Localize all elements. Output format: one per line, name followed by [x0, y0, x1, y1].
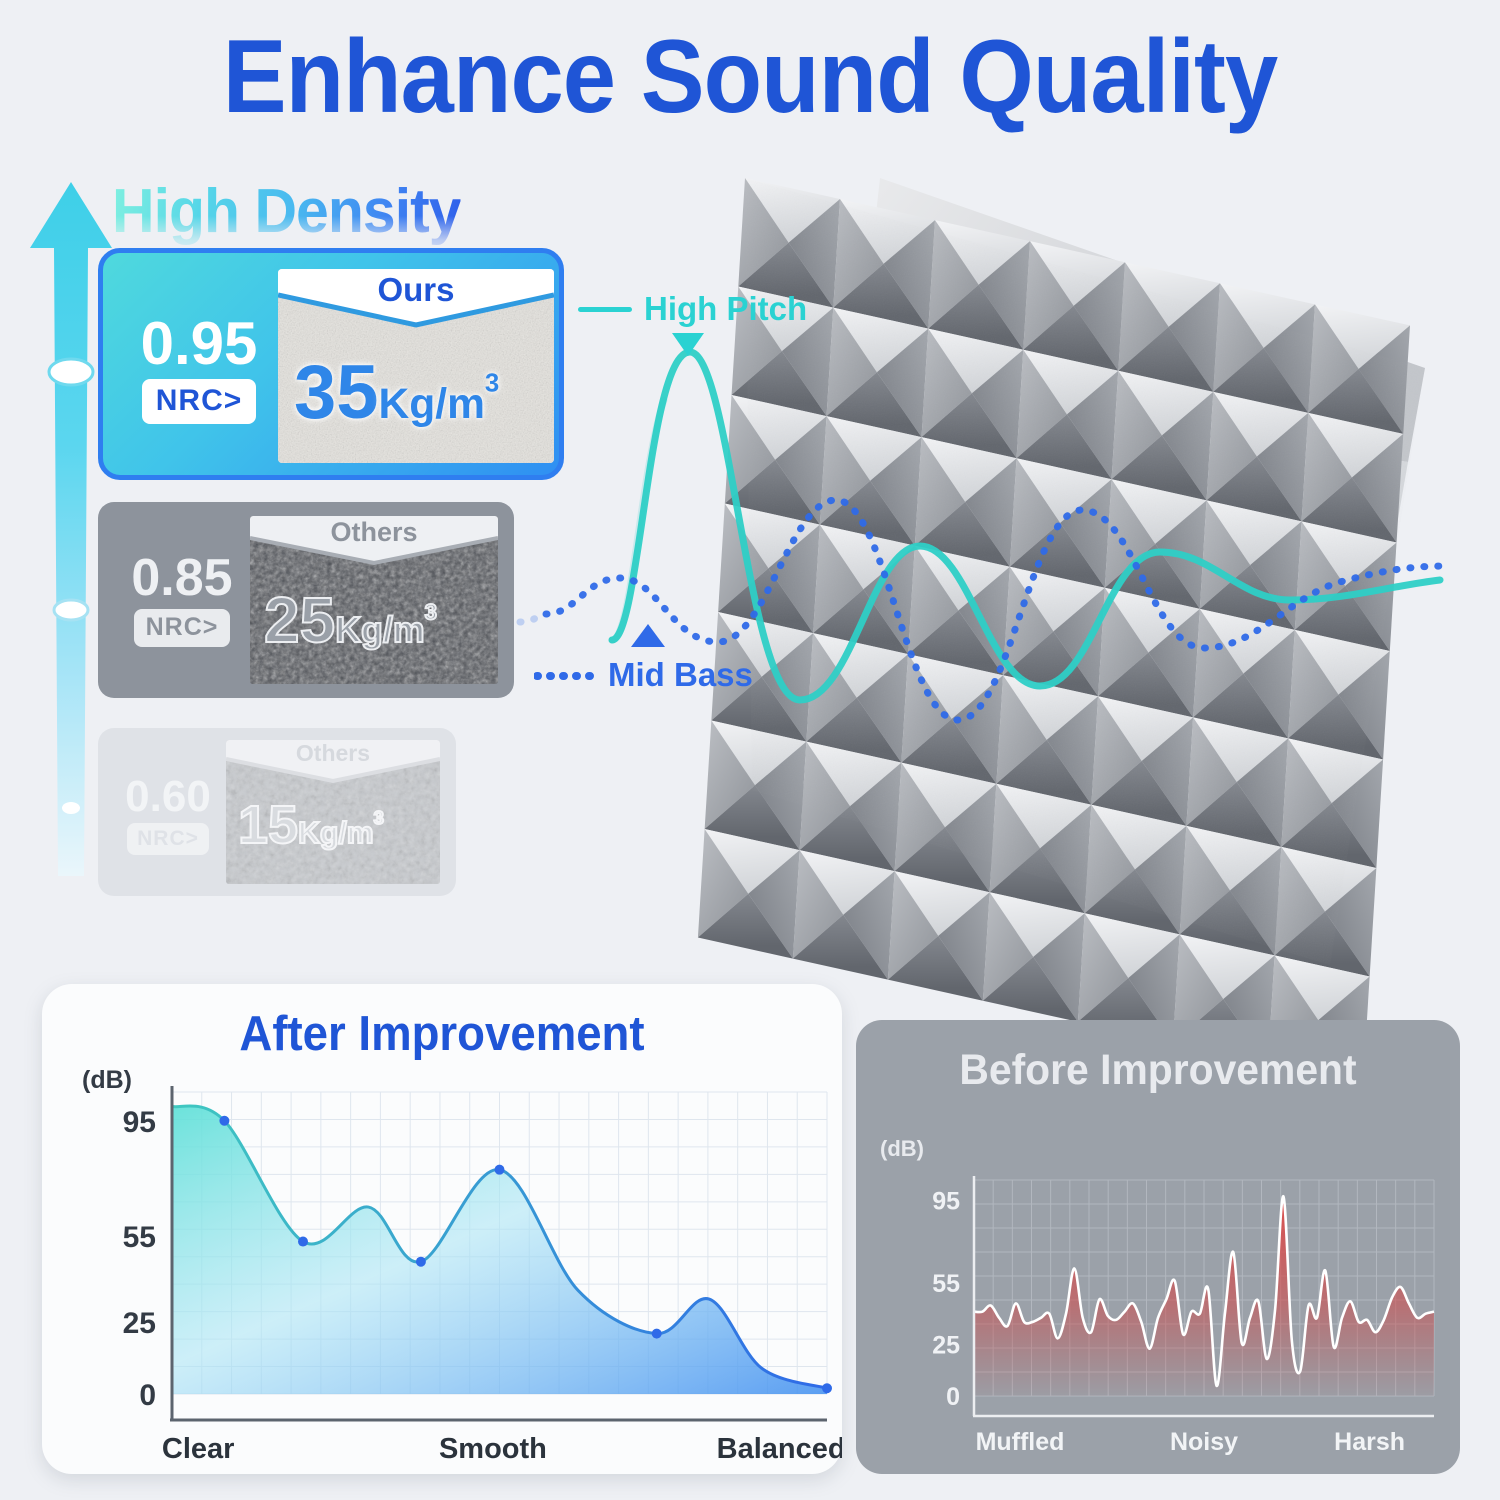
density-sup-ours: 3 — [485, 370, 499, 398]
density-value-others-15: 15Kg/m3 — [238, 798, 384, 852]
legend-label-high-pitch: High Pitch — [644, 290, 807, 328]
nrc-value-others-25: 0.85 — [116, 554, 248, 603]
after-xtick: Clear — [162, 1433, 235, 1465]
before-ytick: 25 — [932, 1332, 960, 1360]
foam-swatch-others-25: Others 25Kg/m3 — [250, 516, 498, 684]
after-chart-plot: 0255595ClearSmoothBalanced — [42, 984, 842, 1474]
density-card-others-15: 0.60 NRC> Others 15K — [98, 728, 456, 896]
nrc-value-ours: 0.95 — [125, 315, 273, 372]
after-ytick: 25 — [123, 1307, 156, 1340]
swatch-banner-others-15: Others — [226, 740, 440, 778]
triangle-down-icon — [668, 330, 708, 360]
swatch-brand-others-15: Others — [296, 740, 370, 767]
before-ytick: 55 — [932, 1270, 960, 1298]
after-ytick: 55 — [123, 1221, 156, 1254]
swatch-brand-ours: Ours — [377, 271, 454, 309]
before-improvement-chart: Before Improvement (dB) 0255595MuffledNo… — [856, 1020, 1460, 1474]
foam-swatch-others-15: Others 15Kg/m3 — [226, 740, 440, 884]
before-xtick: Harsh — [1334, 1428, 1405, 1456]
after-improvement-chart: After Improvement (dB) 0255595ClearSmoot… — [42, 984, 842, 1474]
before-ytick: 95 — [932, 1188, 960, 1216]
swatch-banner-ours: Ours — [278, 269, 554, 325]
triangle-up-icon — [628, 622, 668, 650]
after-xtick: Balanced — [717, 1433, 842, 1465]
density-unit-others-25: Kg/m — [335, 610, 425, 650]
nrc-pill-ours: NRC> — [142, 379, 257, 424]
nrc-block-others-25: 0.85 NRC> — [116, 554, 248, 647]
density-sup-others-25: 3 — [425, 600, 437, 625]
before-chart-plot: 0255595MuffledNoisyHarsh — [856, 1020, 1460, 1474]
after-ytick: 95 — [123, 1106, 156, 1139]
density-card-others-25: 0.85 NRC> Others 25K — [98, 502, 514, 698]
density-unit-ours: Kg/m — [379, 380, 485, 428]
nrc-block-others-15: 0.60 NRC> — [112, 776, 224, 855]
before-xtick: Noisy — [1170, 1428, 1238, 1456]
legend-label-mid-bass: Mid Bass — [608, 656, 753, 694]
density-card-ours: 0.95 NRC> Ours 35Kg/ — [98, 248, 564, 480]
dotted-line-icon — [534, 671, 596, 680]
nrc-pill-others-25: NRC> — [134, 609, 231, 647]
density-sup-others-15: 3 — [374, 807, 384, 828]
swatch-banner-others-25: Others — [250, 516, 498, 561]
legend-high-pitch: High Pitch — [578, 290, 807, 328]
after-xtick: Smooth — [439, 1433, 547, 1465]
density-value-others-25: 25Kg/m3 — [264, 588, 437, 652]
before-ytick: 0 — [946, 1383, 960, 1411]
density-number-others-25: 25 — [264, 584, 335, 656]
foam-swatch-ours: Ours 35Kg/m3 — [278, 269, 554, 463]
nrc-block-ours: 0.95 NRC> — [125, 315, 273, 424]
solid-line-icon — [578, 307, 632, 312]
high-density-title: High Density — [112, 176, 461, 247]
nrc-value-others-15: 0.60 — [112, 776, 224, 818]
swatch-brand-others-25: Others — [330, 517, 417, 548]
legend-mid-bass: Mid Bass — [534, 656, 753, 694]
density-number-ours: 35 — [294, 350, 379, 435]
after-ytick: 0 — [139, 1379, 156, 1412]
before-xtick: Muffled — [976, 1428, 1065, 1456]
density-number-others-15: 15 — [238, 795, 298, 855]
nrc-pill-others-15: NRC> — [127, 823, 209, 855]
density-value-ours: 35Kg/m3 — [294, 355, 499, 431]
density-unit-others-15: Kg/m — [298, 817, 374, 850]
